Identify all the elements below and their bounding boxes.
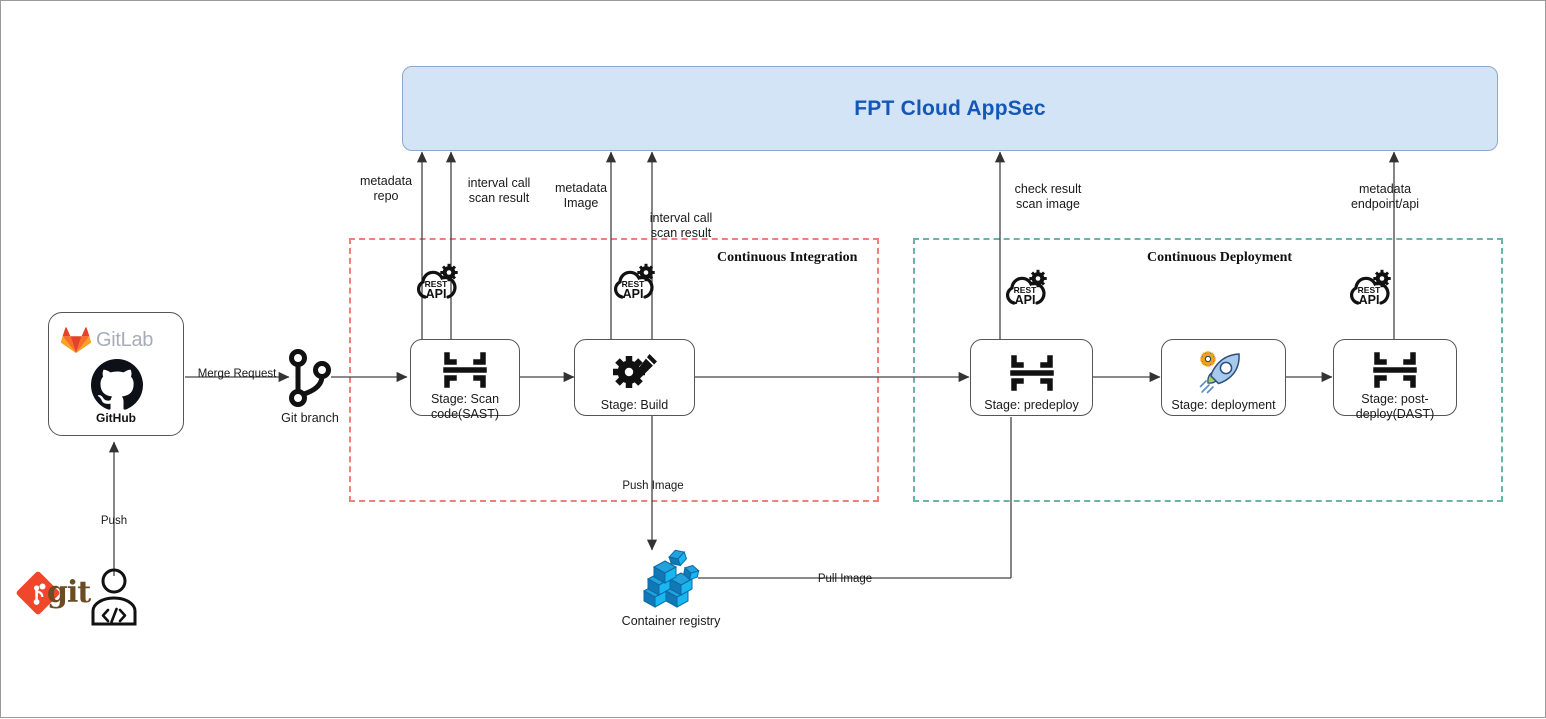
flow-label-metadata-endpoint: metadata endpoint/api [1327,182,1443,212]
stage-post-deploy[interactable]: Stage: post- deploy(DAST) [1333,339,1457,416]
stage-build[interactable]: Stage: Build [574,339,695,416]
svg-text:API: API [1015,293,1036,307]
push-image-label: Push Image [605,479,701,493]
flow-label-interval-scan-image: interval call scan result [635,211,727,241]
svg-text:API: API [426,287,447,301]
gear-pencil-icon [611,350,659,396]
gitlab-logo-row: GitLab [61,325,173,355]
stage-deployment[interactable]: Stage: deployment [1161,339,1286,416]
git-branch-icon [289,349,331,407]
pull-image-label: Pull Image [797,572,893,586]
stage-predeploy[interactable]: Stage: predeploy [970,339,1093,416]
connector-layer [1,1,1546,719]
push-label: Push [74,514,154,528]
stage-predeploy-label: Stage: predeploy [980,398,1083,413]
source-repository-card[interactable]: GitLab GitHub [48,312,184,436]
merge-request-label: Merge Request [187,367,287,381]
stage-scan-code-label: Stage: Scan code(SAST) [411,392,519,422]
rest-api-icon-predeploy: REST API [1003,269,1049,309]
svg-text:API: API [1359,293,1380,307]
flow-label-metadata-image: metadata Image [541,181,621,211]
rest-api-icon-postdeploy: REST API [1347,269,1393,309]
scan-icon [1010,350,1054,396]
github-icon [91,359,143,411]
diagram-canvas: FPT Cloud AppSec Continuous Integration … [0,0,1546,718]
svg-text:API: API [623,287,644,301]
rocket-icon [1199,350,1249,396]
container-registry-icon [634,549,704,611]
stage-deployment-label: Stage: deployment [1167,398,1279,413]
flow-label-interval-scan-code: interval call scan result [453,176,545,206]
rest-api-icon-scan: REST API [414,263,460,303]
github-label: GitHub [49,411,183,425]
gitlab-icon [61,326,91,354]
flow-label-metadata-repo: metadata repo [348,174,424,204]
scan-icon [443,350,487,390]
container-registry-label: Container registry [605,614,737,629]
flow-label-check-result-image: check result scan image [1002,182,1094,212]
gitlab-label: GitLab [96,329,153,352]
git-branch-label: Git branch [251,411,369,426]
stage-post-deploy-label: Stage: post- deploy(DAST) [1334,392,1456,422]
developer-icon [83,567,145,625]
stage-build-label: Stage: Build [597,398,672,413]
rest-api-icon-build: REST API [611,263,657,303]
stage-scan-code[interactable]: Stage: Scan code(SAST) [410,339,520,416]
scan-icon [1373,350,1417,390]
